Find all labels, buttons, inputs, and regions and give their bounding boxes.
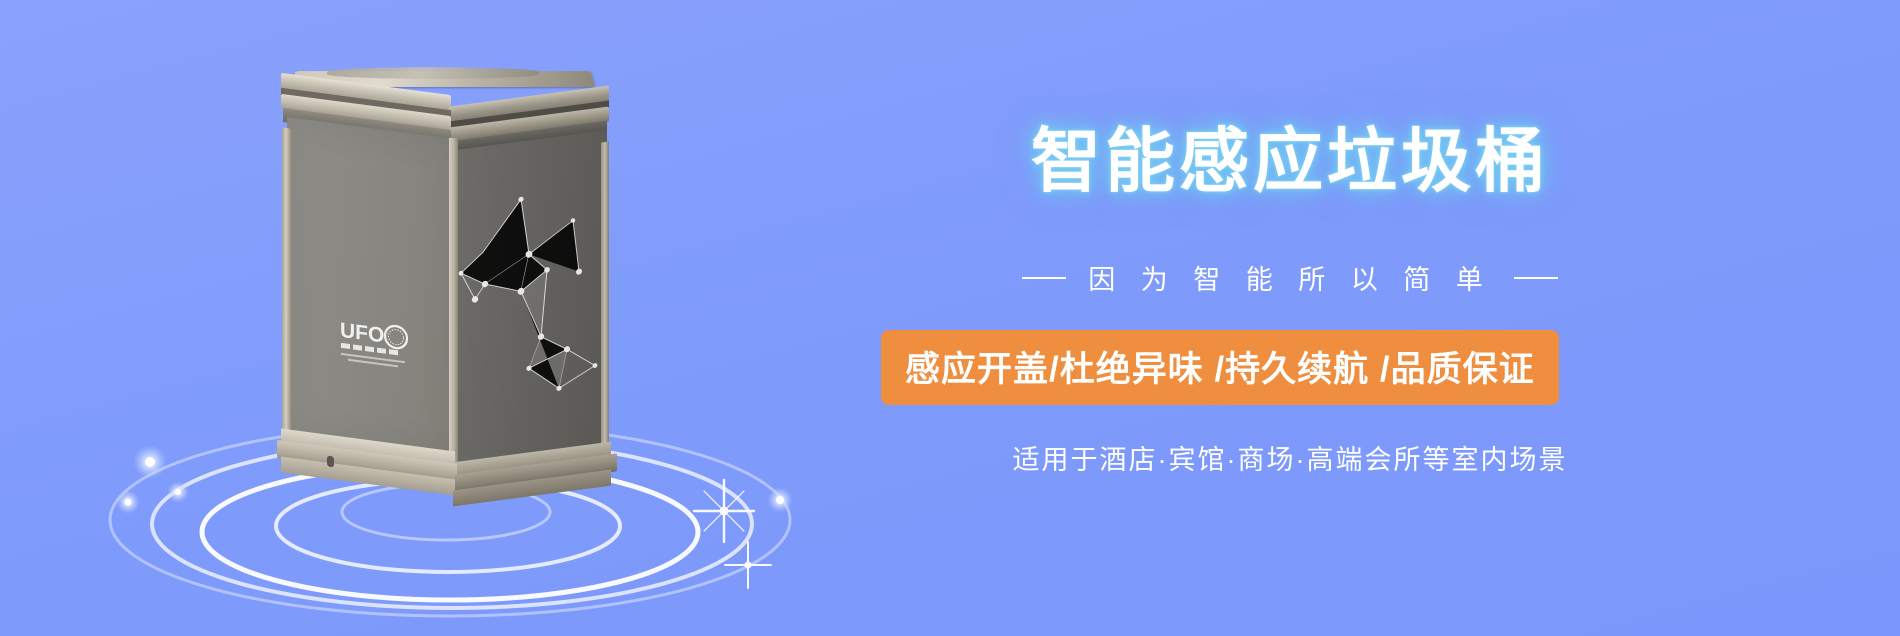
headline: 智能感应垃圾桶 <box>880 126 1700 196</box>
subline-rule-right <box>1514 277 1558 279</box>
subline: 因 为 智 能 所 以 简 单 <box>880 258 1700 297</box>
product-banner: UFO <box>0 0 1900 636</box>
ufo-wordmark: UFO <box>340 319 384 348</box>
cabinet-face-left <box>287 117 455 459</box>
banner-copy-block: 智能感应垃圾桶 因 为 智 能 所 以 简 单 感应开盖/杜绝异味 /持久续航 … <box>880 0 1840 636</box>
corner-rail-left <box>282 127 291 450</box>
trash-can-product-image: UFO <box>275 58 620 518</box>
application-scenes-text: 适用于酒店·宾馆·商场·高端会所等室内场景 <box>880 438 1700 477</box>
lid-inner-opening <box>326 67 540 79</box>
ufo-brand-logo: UFO <box>339 315 421 378</box>
subline-text: 因 为 智 能 所 以 简 单 <box>1088 258 1492 297</box>
product-stage: UFO <box>60 0 820 636</box>
ufo-ring-icon <box>385 325 407 350</box>
polygon-network-graphic <box>455 158 607 428</box>
plinth-vent-slot <box>327 456 334 468</box>
ufo-tagline-sub <box>341 353 405 368</box>
subline-rule-left <box>1022 277 1066 279</box>
features-badge: 感应开盖/杜绝异味 /持久续航 /品质保证 <box>881 330 1559 405</box>
